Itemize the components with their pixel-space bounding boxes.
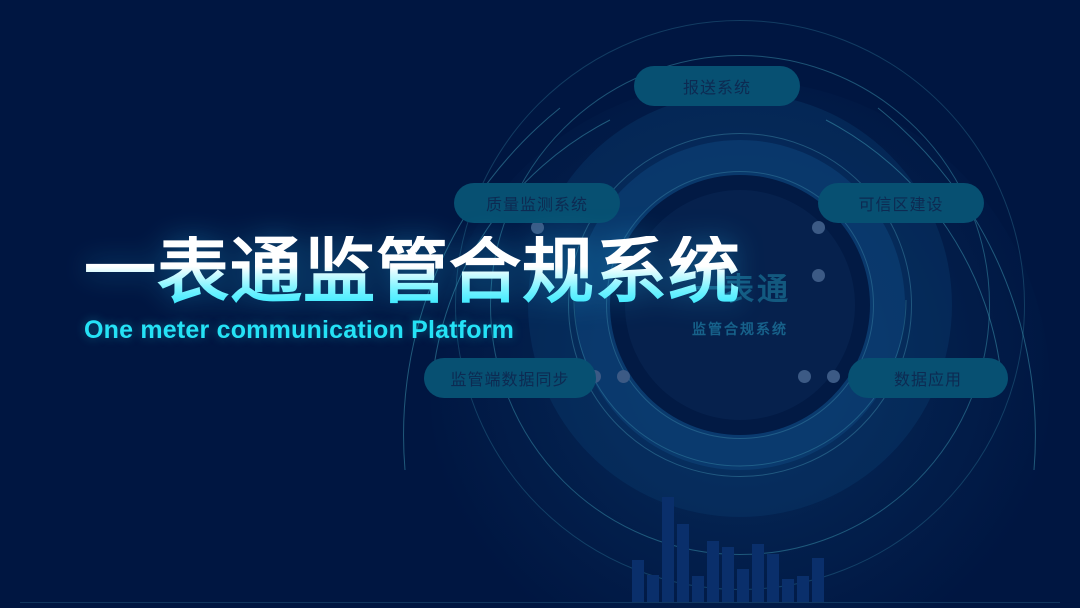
chart-bar xyxy=(767,554,779,602)
chart-bar xyxy=(677,524,689,602)
node-pill-dataapp[interactable]: 数据应用 xyxy=(848,358,1008,398)
headline-block: 一表通监管合规系统 One meter communication Platfo… xyxy=(84,236,741,345)
chart-bar xyxy=(782,579,794,602)
chart-baseline xyxy=(20,602,1060,603)
chart-bar xyxy=(722,547,734,602)
node-dot-dataapp-inner xyxy=(798,370,811,383)
chart-bar xyxy=(737,569,749,602)
chart-bar xyxy=(752,544,764,602)
node-dot-sync-outer xyxy=(617,370,630,383)
page-subtitle: One meter communication Platform xyxy=(84,316,741,345)
node-dot-right-upper xyxy=(812,269,825,282)
chart-bar xyxy=(647,575,659,602)
node-pill-report[interactable]: 报送系统 xyxy=(634,66,800,106)
decorative-bar-chart xyxy=(632,492,824,602)
chart-bar xyxy=(692,576,704,602)
page-title: 一表通监管合规系统 xyxy=(84,236,741,308)
chart-bar xyxy=(632,560,644,602)
chart-bar xyxy=(812,558,824,602)
node-dot-trusted xyxy=(812,221,825,234)
chart-bar xyxy=(707,541,719,602)
node-dot-dataapp-outer xyxy=(827,370,840,383)
node-pill-trusted[interactable]: 可信区建设 xyxy=(818,183,984,223)
node-pill-quality[interactable]: 质量监测系统 xyxy=(454,183,620,223)
chart-bar xyxy=(662,497,674,602)
chart-bar xyxy=(797,576,809,602)
slide-canvas: 一表通 监管合规系统 报送系统 质量监测系统 可信区建设 监管端数据同步 数据应… xyxy=(0,0,1080,608)
node-pill-sync[interactable]: 监管端数据同步 xyxy=(424,358,596,398)
